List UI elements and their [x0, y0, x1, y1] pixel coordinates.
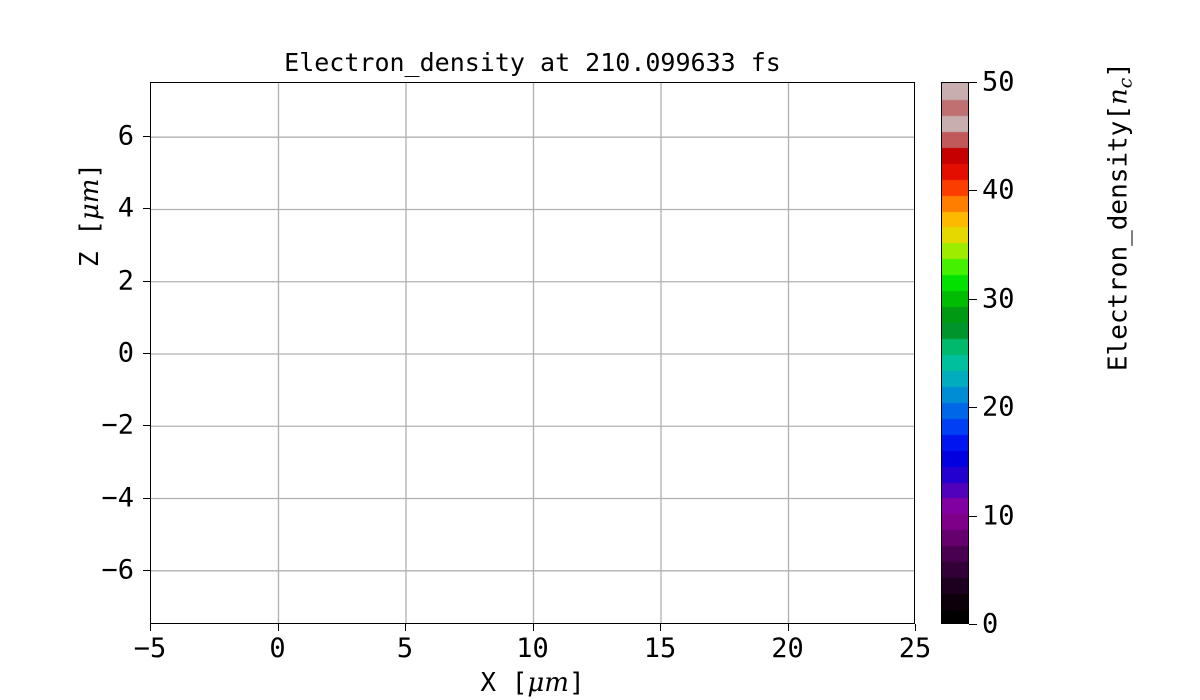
electron-density-heatmap — [151, 83, 915, 624]
x-tick-mark — [278, 624, 279, 631]
colorbar-gradient — [942, 83, 969, 624]
colorbar-label: Electron_density[nc] — [1103, 0, 1136, 457]
x-tick-label: 20 — [771, 633, 804, 664]
colorbar-tick-mark — [969, 516, 977, 517]
x-tick-label: 25 — [899, 633, 932, 664]
x-tick-mark — [660, 624, 661, 631]
x-tick-mark — [405, 624, 406, 631]
x-tick-mark — [788, 624, 789, 631]
colorbar-tick-label: 30 — [982, 283, 1015, 314]
y-tick-label: 4 — [118, 193, 134, 224]
colorbar-tick-label: 40 — [982, 175, 1015, 206]
y-tick-label: −4 — [101, 482, 134, 513]
colorbar-tick-label: 20 — [982, 392, 1015, 423]
y-tick-mark — [143, 353, 150, 354]
plot-axes-area[interactable] — [150, 82, 915, 624]
colorbar-tick-label: 0 — [982, 609, 998, 640]
y-tick-mark — [143, 425, 150, 426]
y-tick-mark — [143, 208, 150, 209]
colorbar-tick-mark — [969, 82, 977, 83]
colorbar-tick-mark — [969, 407, 977, 408]
x-tick-mark — [533, 624, 534, 631]
figure-canvas: Electron_density at 210.099633 fs −50510… — [0, 0, 1200, 700]
colorbar-tick-mark — [969, 190, 977, 191]
x-tick-label: −5 — [134, 633, 167, 664]
plot-title: Electron_density at 210.099633 fs — [150, 48, 915, 77]
y-tick-mark — [143, 281, 150, 282]
y-tick-mark — [143, 136, 150, 137]
x-tick-label: 5 — [397, 633, 413, 664]
x-tick-label: 15 — [644, 633, 677, 664]
y-tick-label: 0 — [118, 338, 134, 369]
y-tick-label: 2 — [118, 265, 134, 296]
y-tick-mark — [143, 570, 150, 571]
y-axis-label: Z [μm] — [75, 65, 105, 365]
colorbar-tick-label: 10 — [982, 500, 1015, 531]
colorbar-tick-mark — [969, 299, 977, 300]
x-tick-label: 0 — [269, 633, 285, 664]
x-tick-mark — [915, 624, 916, 631]
x-axis-label: X [μm] — [150, 668, 915, 698]
x-tick-label: 10 — [516, 633, 549, 664]
y-tick-mark — [143, 498, 150, 499]
y-tick-label: −2 — [101, 410, 134, 441]
y-tick-label: 6 — [118, 121, 134, 152]
colorbar[interactable] — [941, 82, 969, 624]
colorbar-tick-mark — [969, 624, 977, 625]
x-tick-mark — [150, 624, 151, 631]
colorbar-tick-label: 50 — [982, 67, 1015, 98]
y-tick-label: −6 — [101, 554, 134, 585]
